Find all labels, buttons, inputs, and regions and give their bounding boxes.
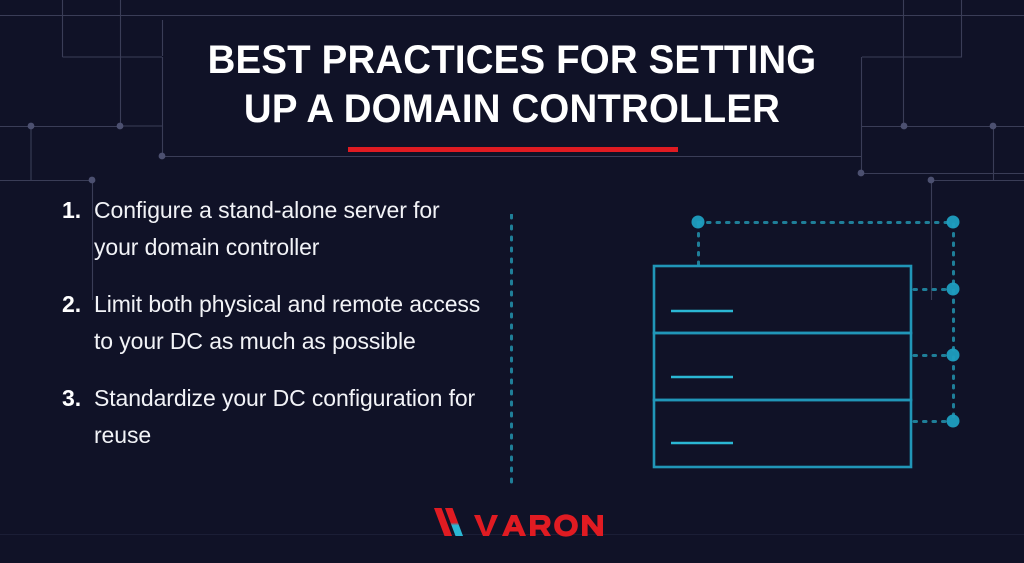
varonis-logo: VARONIS [427, 500, 607, 544]
list-item-number: 2. [62, 286, 94, 323]
server-rack-diagram [630, 200, 990, 490]
list-item-label: Standardize your DC configuration for re… [94, 380, 482, 454]
rack-unit-2 [654, 333, 911, 400]
logo-wordmark [474, 514, 603, 536]
page-title-line-2: UP A DOMAIN CONTROLLER [20, 85, 1003, 134]
diagram-nodes [692, 216, 960, 428]
logo-mark-icon [434, 508, 463, 536]
list-item: 3. Standardize your DC configuration for… [62, 380, 482, 454]
page-title-line-1: BEST PRACTICES FOR SETTING [20, 36, 1003, 85]
node-top-right [947, 216, 960, 229]
title-underline-accent [348, 147, 678, 152]
node-right-2 [947, 349, 960, 362]
rack-unit-3 [654, 400, 911, 467]
vertical-dotted-divider [510, 214, 513, 486]
node-top-left [692, 216, 705, 229]
rack-unit-1 [654, 266, 911, 333]
list-item: 2. Limit both physical and remote access… [62, 286, 482, 360]
list-item-number: 1. [62, 192, 94, 229]
list-item-label: Configure a stand-alone server for your … [94, 192, 482, 266]
node-right-3 [947, 415, 960, 428]
list-item-label: Limit both physical and remote access to… [94, 286, 482, 360]
infographic-canvas: BEST PRACTICES FOR SETTING UP A DOMAIN C… [0, 0, 1024, 563]
best-practices-list: 1. Configure a stand-alone server for yo… [62, 192, 482, 474]
page-title: BEST PRACTICES FOR SETTING UP A DOMAIN C… [0, 36, 1024, 134]
node-right-1 [947, 283, 960, 296]
list-item-number: 3. [62, 380, 94, 417]
list-item: 1. Configure a stand-alone server for yo… [62, 192, 482, 266]
